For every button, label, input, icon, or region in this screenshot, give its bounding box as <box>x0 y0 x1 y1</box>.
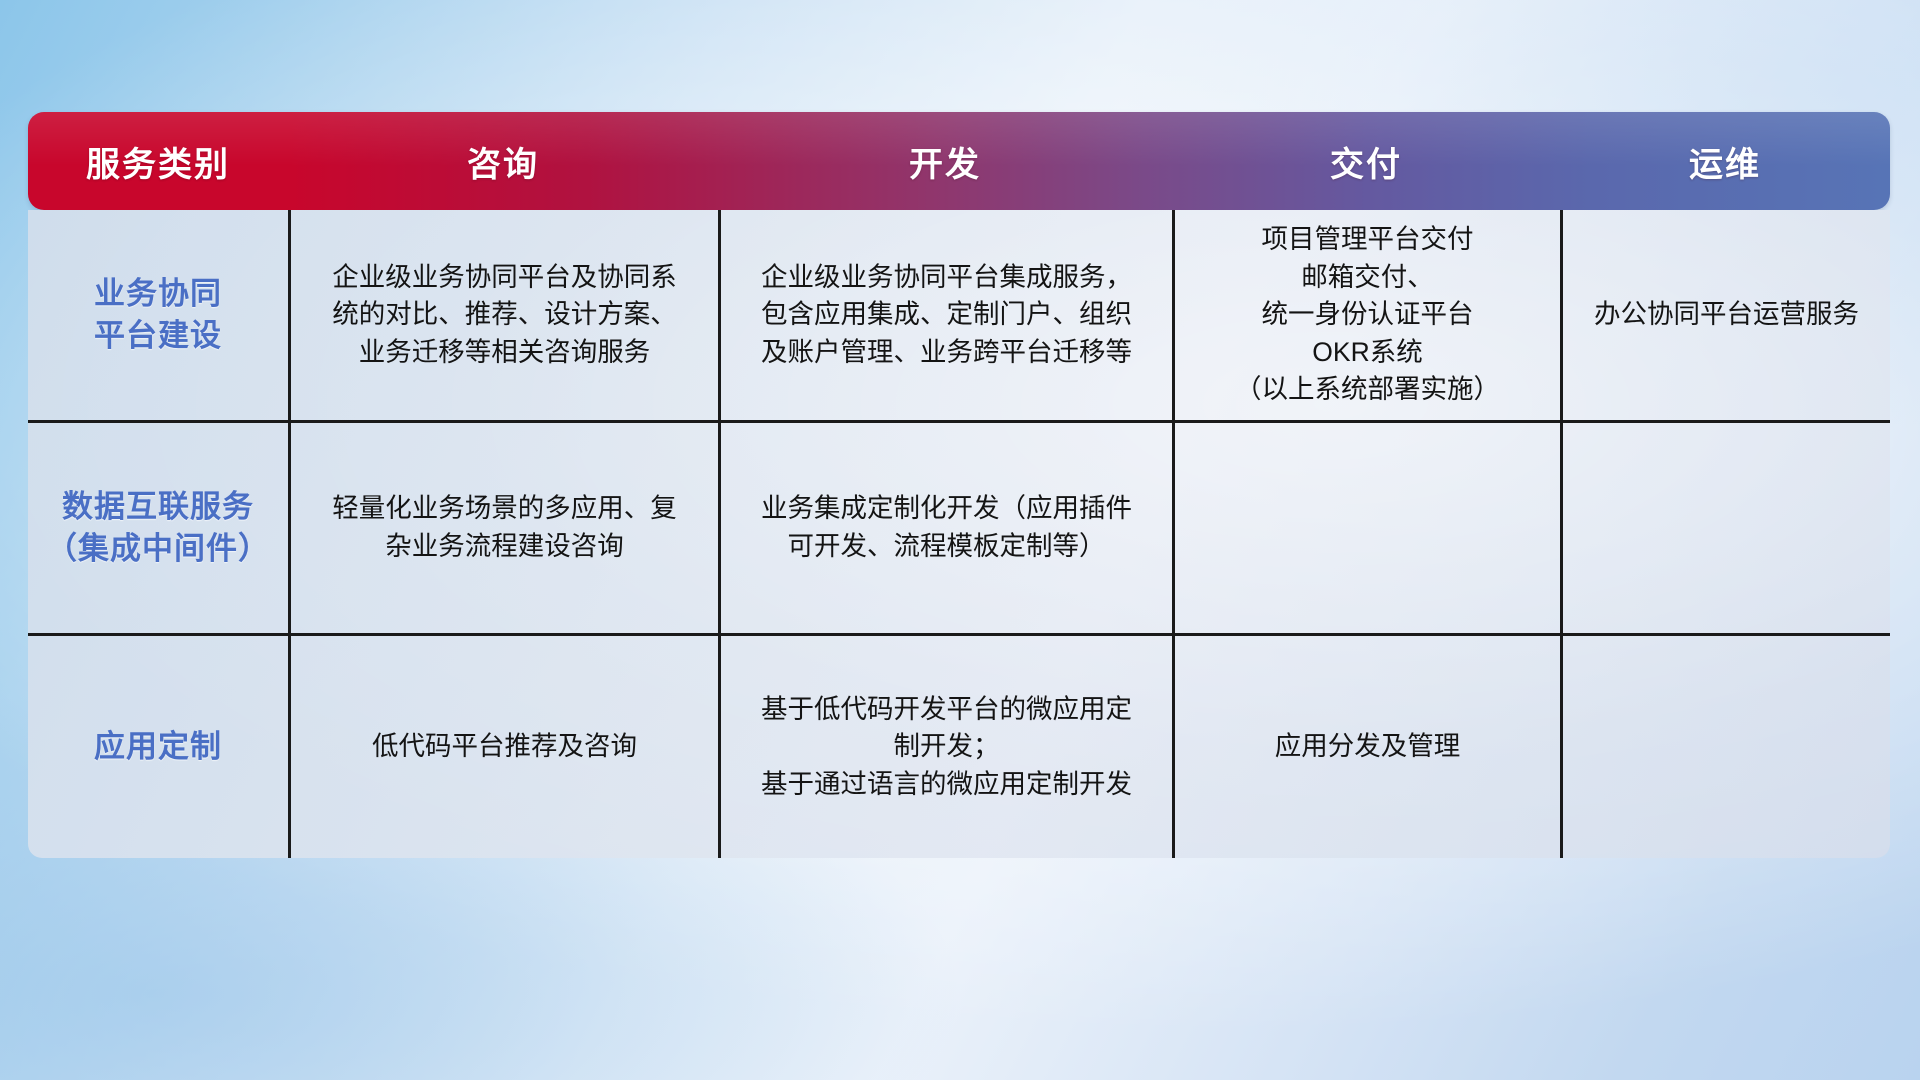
cell-text: 低代码平台推荐及咨询 <box>372 728 637 766</box>
cell-text: 办公协同平台运营服务 <box>1594 296 1859 334</box>
table-row: 数据互联服务 （集成中间件） 轻量化业务场景的多应用、复 杂业务流程建设咨询 业… <box>28 420 1890 633</box>
cell-delivery: 应用分发及管理 <box>1172 636 1560 858</box>
table-header-row: 服务类别 咨询 开发 交付 运维 <box>28 112 1890 210</box>
cell-development: 业务集成定制化开发（应用插件 可开发、流程模板定制等） <box>718 423 1172 633</box>
cell-consulting: 低代码平台推荐及咨询 <box>288 636 718 858</box>
column-header-consulting: 咨询 <box>288 137 718 186</box>
table-row: 应用定制 低代码平台推荐及咨询 基于低代码开发平台的微应用定 制开发； 基于通过… <box>28 633 1890 858</box>
row-category-label: 应用定制 <box>94 726 222 768</box>
row-category-label: 数据互联服务 （集成中间件） <box>46 486 270 570</box>
cell-consulting: 企业级业务协同平台及协同系 统的对比、推荐、设计方案、 业务迁移等相关咨询服务 <box>288 210 718 420</box>
cell-operations <box>1560 636 1890 858</box>
cell-operations <box>1560 423 1890 633</box>
cell-text: 应用分发及管理 <box>1275 728 1461 766</box>
cell-text: 项目管理平台交付 邮箱交付、 统一身份认证平台 OKR系统 （以上系统部署实施） <box>1235 221 1500 409</box>
column-header-service-category: 服务类别 <box>28 137 288 186</box>
cell-development: 企业级业务协同平台集成服务， 包含应用集成、定制门户、组织 及账户管理、业务跨平… <box>718 210 1172 420</box>
cell-delivery <box>1172 423 1560 633</box>
cell-text: 基于低代码开发平台的微应用定 制开发； 基于通过语言的微应用定制开发 <box>761 691 1132 804</box>
table-body: 业务协同 平台建设 企业级业务协同平台及协同系 统的对比、推荐、设计方案、 业务… <box>28 210 1890 858</box>
column-header-development: 开发 <box>718 137 1172 186</box>
row-category-label: 业务协同 平台建设 <box>94 273 222 357</box>
row-category-cell: 应用定制 <box>28 636 288 858</box>
table-row: 业务协同 平台建设 企业级业务协同平台及协同系 统的对比、推荐、设计方案、 业务… <box>28 210 1890 420</box>
row-category-cell: 业务协同 平台建设 <box>28 210 288 420</box>
cell-development: 基于低代码开发平台的微应用定 制开发； 基于通过语言的微应用定制开发 <box>718 636 1172 858</box>
cell-operations: 办公协同平台运营服务 <box>1560 210 1890 420</box>
column-header-operations: 运维 <box>1560 137 1890 186</box>
cell-consulting: 轻量化业务场景的多应用、复 杂业务流程建设咨询 <box>288 423 718 633</box>
cell-delivery: 项目管理平台交付 邮箱交付、 统一身份认证平台 OKR系统 （以上系统部署实施） <box>1172 210 1560 420</box>
cell-text: 轻量化业务场景的多应用、复 杂业务流程建设咨询 <box>332 490 677 565</box>
cell-text: 企业级业务协同平台集成服务， 包含应用集成、定制门户、组织 及账户管理、业务跨平… <box>761 259 1132 372</box>
cell-text: 企业级业务协同平台及协同系 统的对比、推荐、设计方案、 业务迁移等相关咨询服务 <box>332 259 677 372</box>
row-category-cell: 数据互联服务 （集成中间件） <box>28 423 288 633</box>
cell-text: 业务集成定制化开发（应用插件 可开发、流程模板定制等） <box>761 490 1132 565</box>
service-matrix-table: 服务类别 咨询 开发 交付 运维 业务协同 平台建设 企业级业务协同平台及协同系… <box>28 112 1890 858</box>
column-header-delivery: 交付 <box>1172 137 1560 186</box>
